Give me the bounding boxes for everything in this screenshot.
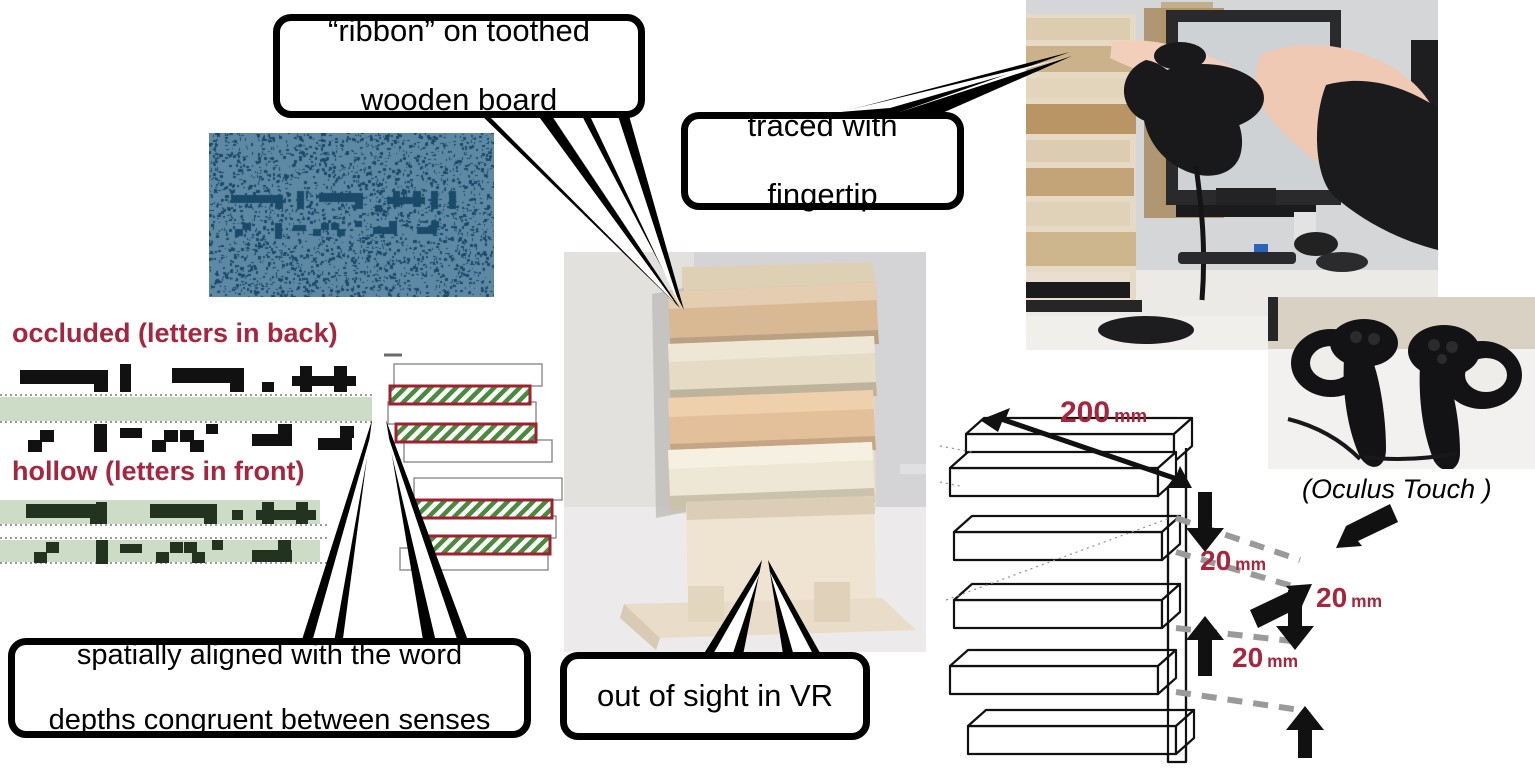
callout-line: depths congruent between senses: [49, 704, 491, 736]
figure-canvas: occluded (letters in back): [0, 0, 1535, 780]
callout-traced-fingertip-text: traced with fingertip: [748, 109, 898, 213]
callout-out-of-sight-text: out of sight in VR: [597, 679, 833, 714]
callout-out-of-sight[interactable]: out of sight in VR: [560, 652, 870, 740]
word-hollow-illustration: [0, 496, 380, 574]
dimension-arrows-overlay: [1150, 490, 1440, 730]
dimension-value-gap: 20: [1200, 545, 1231, 576]
callout-traced-fingertip[interactable]: traced with fingertip: [681, 112, 964, 210]
dimension-unit-200: mm: [1114, 405, 1147, 426]
caption-oculus-touch: (Oculus Touch ): [1302, 474, 1492, 505]
callout-spatially-aligned-text: spatially aligned with the word depths c…: [49, 639, 491, 736]
dimension-label-200mm: 200mm: [1060, 396, 1147, 430]
dimension-unit-height: mm: [1267, 651, 1298, 671]
dimension-value-depth: 20: [1316, 582, 1347, 613]
photo-oculus-touch-controllers: [1268, 297, 1535, 469]
word-occluded-illustration: [0, 362, 380, 462]
dimension-unit-gap: mm: [1235, 554, 1266, 574]
dimension-unit-depth: mm: [1351, 591, 1382, 611]
callout-line: wooden board: [328, 83, 590, 118]
side-view-slat-schematic: [378, 348, 558, 578]
random-dot-stereogram-image: [209, 133, 494, 297]
dimension-value-height: 20: [1232, 642, 1263, 673]
callout-ribbon-board[interactable]: “ribbon” on toothed wooden board: [273, 14, 645, 118]
label-occluded: occluded (letters in back): [12, 318, 338, 349]
callout-line: fingertip: [748, 178, 898, 213]
dimension-value-200: 200: [1060, 396, 1110, 429]
dimension-label-slat-height: 20mm: [1232, 642, 1298, 674]
label-hollow: hollow (letters in front): [12, 456, 304, 487]
dimension-label-slat-gap: 20mm: [1200, 545, 1266, 577]
dimension-label-slat-depth: 20mm: [1316, 582, 1382, 614]
callout-line: spatially aligned with the word: [49, 639, 491, 671]
callout-line: traced with: [748, 109, 898, 144]
callout-line: “ribbon” on toothed: [328, 14, 590, 49]
callout-ribbon-board-text: “ribbon” on toothed wooden board: [328, 14, 590, 118]
callout-spatially-aligned[interactable]: spatially aligned with the word depths c…: [8, 638, 531, 738]
photo-toothed-wooden-board: [564, 252, 926, 652]
